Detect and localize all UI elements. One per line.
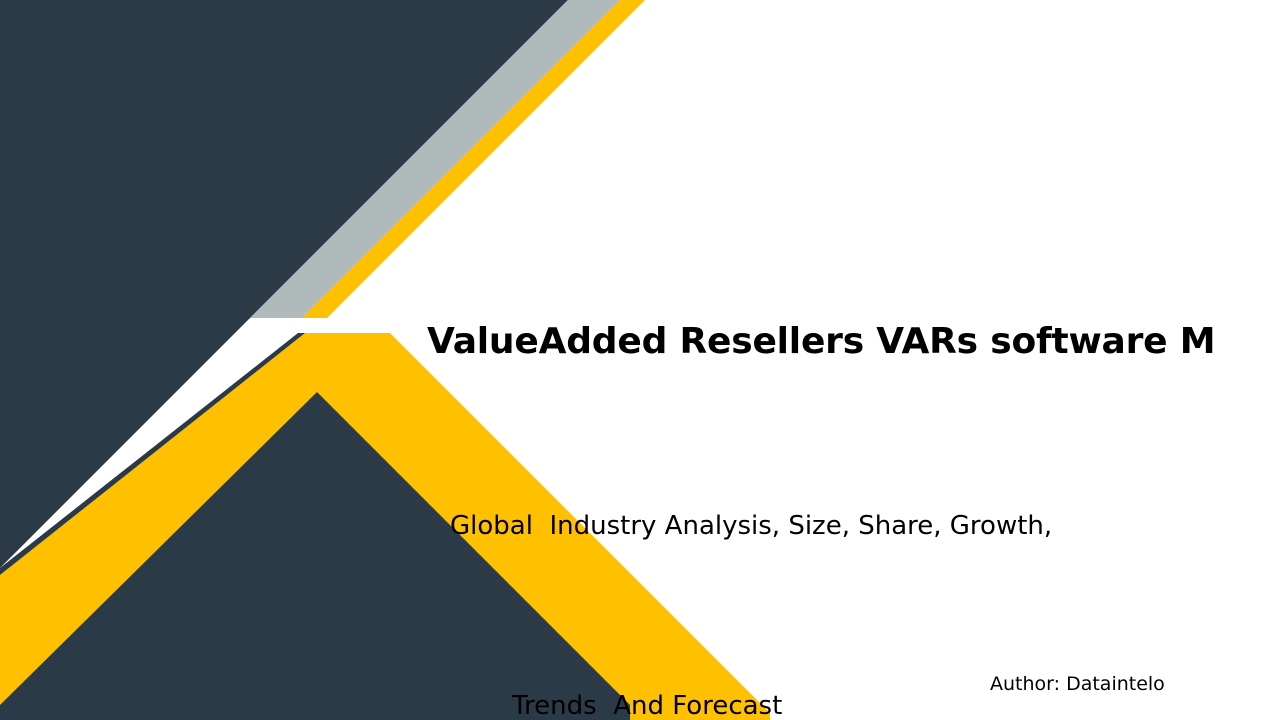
title-slide: ValueAdded Resellers VARs software M Glo… — [0, 0, 1280, 720]
author-credit: Author: Dataintelo — [990, 671, 1165, 697]
page-title: ValueAdded Resellers VARs software M — [427, 318, 1280, 366]
slide-subtitle: Global Industry Analysis, Size, Share, G… — [450, 376, 1210, 720]
subtitle-line-1: Global Industry Analysis, Size, Share, G… — [450, 496, 1210, 556]
slide-content: ValueAdded Resellers VARs software M Glo… — [0, 0, 1280, 720]
